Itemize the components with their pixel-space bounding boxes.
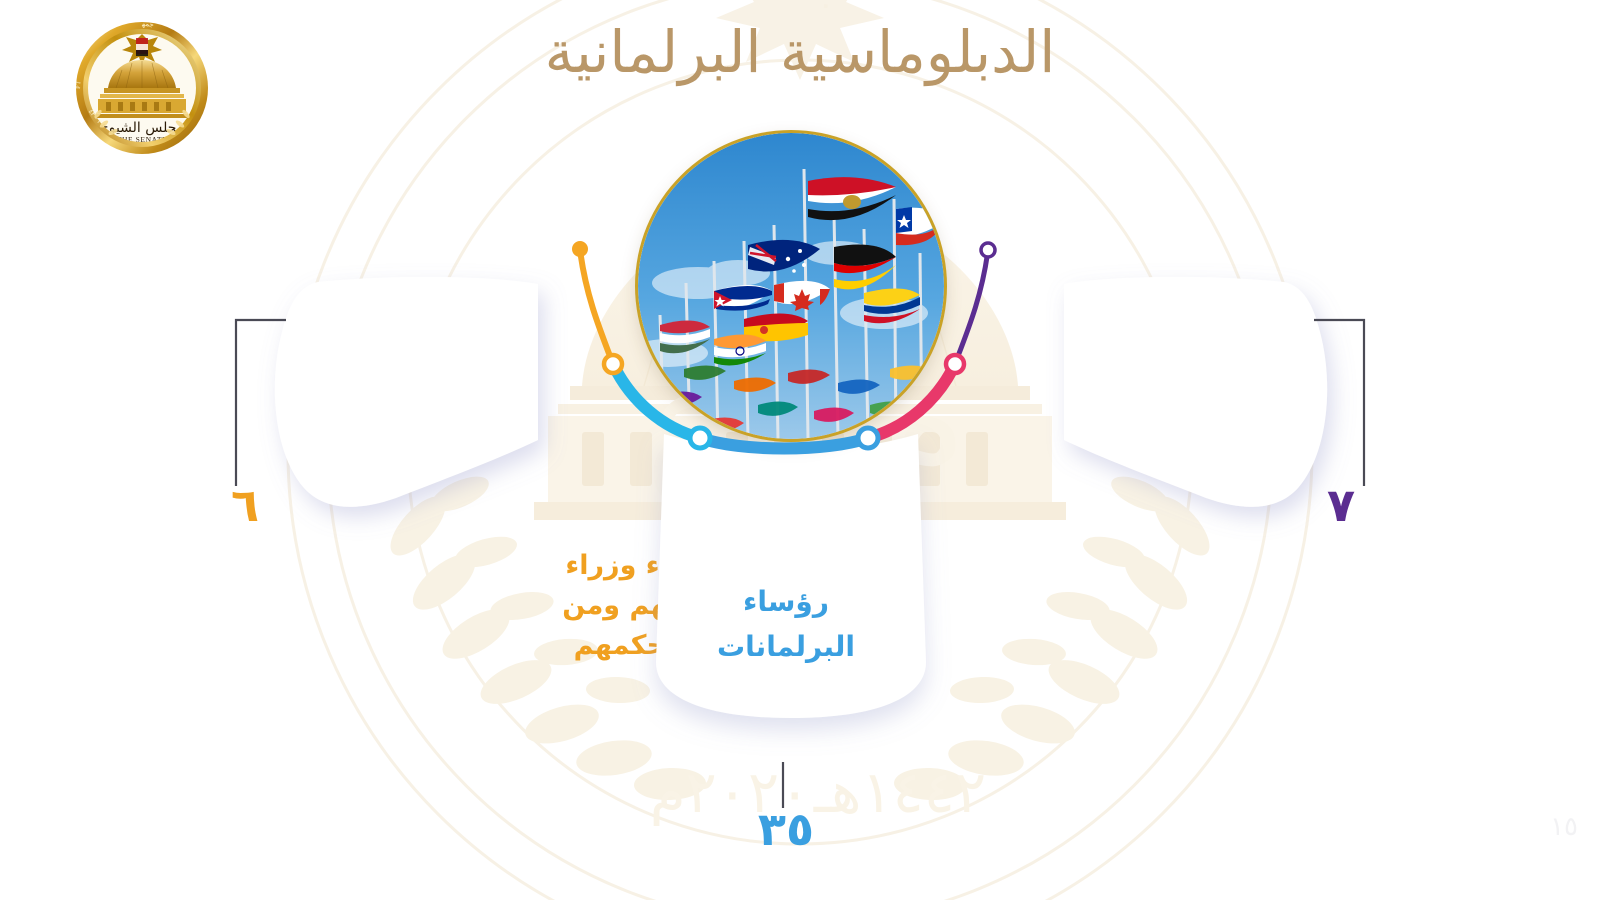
category-value-parliament-speakers: ٣٥ bbox=[726, 806, 846, 852]
svg-text:جمهورية مصر العربية: جمهورية مصر العربية bbox=[260, 0, 845, 14]
category-value-prime-ministers: ٦ bbox=[210, 482, 280, 528]
category-label-parliament-speakers: رؤساء البرلمانات bbox=[676, 580, 896, 670]
connector-right bbox=[1312, 318, 1372, 488]
arc-node-pink-purple bbox=[946, 355, 964, 373]
svg-text:جمهورية مصر العربية: جمهورية مصر العربية bbox=[72, 18, 154, 29]
slide-canvas: مجلس الشيوخ bbox=[0, 0, 1600, 900]
page-number: ١٥ bbox=[1550, 812, 1578, 842]
arc-segment-purple bbox=[955, 250, 988, 364]
connector-left bbox=[228, 318, 288, 488]
slide-title: الدبلوماسية البرلمانية bbox=[0, 16, 1600, 89]
arc-segment-orange bbox=[580, 250, 613, 364]
arc-node-orange-cyan bbox=[604, 355, 622, 373]
arc-endpoint-orange bbox=[572, 241, 588, 257]
category-card-prime-ministers[interactable]: رؤساء وزراء ونوابهم ومن فى حكمهم bbox=[246, 264, 556, 514]
category-card-heads-of-state[interactable]: رؤساء الدول bbox=[1046, 264, 1356, 514]
arc-endpoint-purple bbox=[981, 243, 995, 257]
world-flags-image bbox=[638, 133, 944, 439]
category-value-heads-of-state: ٧ bbox=[1306, 482, 1376, 528]
senate-logo: مجلس الشيوخ THE SENATE ARAB REPUBLIC OF … bbox=[72, 18, 212, 158]
